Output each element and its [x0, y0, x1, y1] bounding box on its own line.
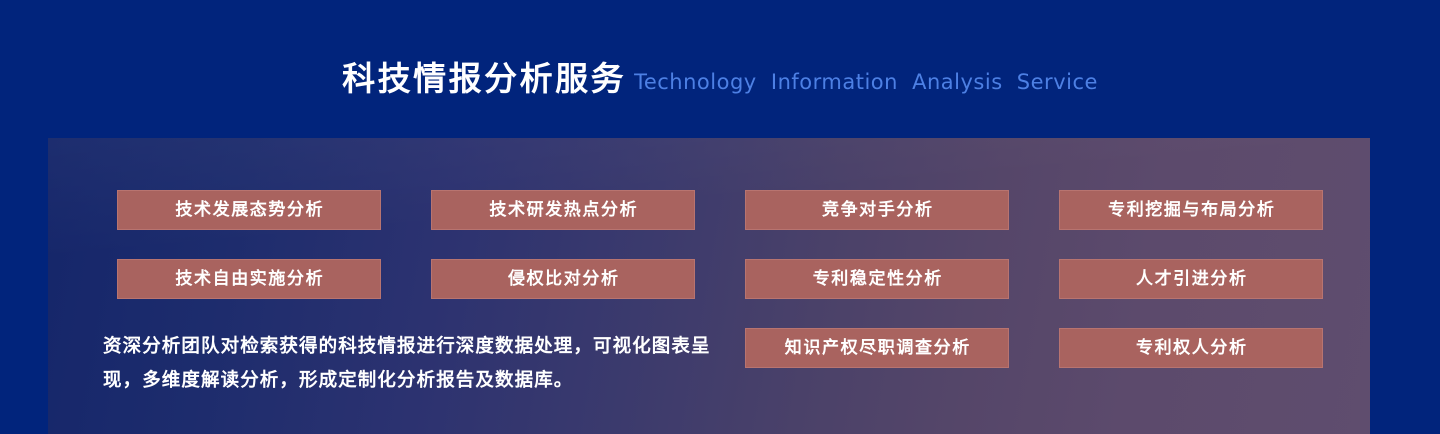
grid-cell: 技术研发热点分析	[431, 190, 695, 230]
service-button-rd-hotspot[interactable]: 技术研发热点分析	[431, 190, 695, 230]
grid-cell: 侵权比对分析	[431, 259, 695, 299]
grid-cell: 专利稳定性分析	[745, 259, 1009, 299]
grid-cell: 专利权人分析	[1059, 328, 1323, 368]
page-title-chinese: 科技情报分析服务	[342, 62, 626, 95]
service-button-competitor[interactable]: 竞争对手分析	[745, 190, 1009, 230]
service-button-tech-trend[interactable]: 技术发展态势分析	[117, 190, 381, 230]
grid-cell: 专利挖掘与布局分析	[1059, 190, 1323, 230]
page-title: 科技情报分析服务Technology Information Analysis …	[0, 62, 1440, 95]
service-button-freedom-to-operate[interactable]: 技术自由实施分析	[117, 259, 381, 299]
service-button-infringement-comparison[interactable]: 侵权比对分析	[431, 259, 695, 299]
grid-cell: 知识产权尽职调查分析	[745, 328, 1009, 368]
grid-cell: 人才引进分析	[1059, 259, 1323, 299]
service-row-2: 技术自由实施分析 侵权比对分析 专利稳定性分析 人才引进分析	[117, 259, 1323, 299]
grid-cell: 竞争对手分析	[745, 190, 1009, 230]
page-root: 科技情报分析服务Technology Information Analysis …	[0, 0, 1440, 434]
services-panel: 技术发展态势分析 技术研发热点分析 竞争对手分析 专利挖掘与布局分析 技术自由实…	[48, 138, 1370, 434]
panel-description: 资深分析团队对检索获得的科技情报进行深度数据处理，可视化图表呈现，多维度解读分析…	[103, 330, 738, 398]
service-button-patent-mining[interactable]: 专利挖掘与布局分析	[1059, 190, 1323, 230]
page-title-english: Technology Information Analysis Service	[634, 72, 1098, 93]
service-button-talent-recruitment[interactable]: 人才引进分析	[1059, 259, 1323, 299]
grid-cell: 技术发展态势分析	[117, 190, 381, 230]
service-button-patentee[interactable]: 专利权人分析	[1059, 328, 1323, 368]
service-row-1: 技术发展态势分析 技术研发热点分析 竞争对手分析 专利挖掘与布局分析	[117, 190, 1323, 230]
grid-cell: 技术自由实施分析	[117, 259, 381, 299]
service-button-ip-due-diligence[interactable]: 知识产权尽职调查分析	[745, 328, 1009, 368]
service-button-patent-stability[interactable]: 专利稳定性分析	[745, 259, 1009, 299]
